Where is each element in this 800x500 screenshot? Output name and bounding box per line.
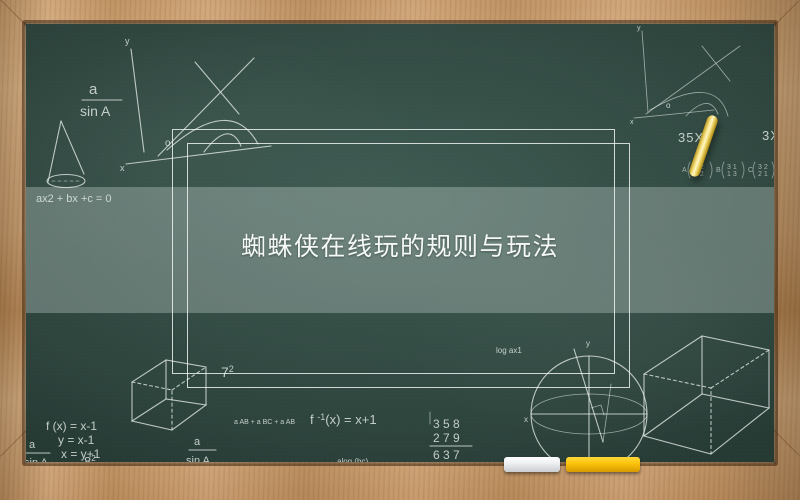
- frac-sina-bottom-2: sin A: [26, 457, 49, 462]
- axis-label-y-right: y: [637, 25, 641, 32]
- axis-label-y-left: y: [125, 36, 130, 46]
- svg-text:3 2: 3 2: [758, 164, 768, 171]
- long-div-row-2: 2 7 9: [433, 431, 460, 445]
- svg-text:3 1: 3 1: [727, 164, 737, 171]
- label-3x2: 3X2: [762, 128, 774, 143]
- screenshot-root: a sin A y x o ax2 + bx +c = 0: [0, 0, 800, 500]
- svg-text:1 3: 1 3: [727, 171, 737, 178]
- fx-equation: f (x) = x-1: [46, 419, 97, 433]
- chalkboard-surface: a sin A y x o ax2 + bx +c = 0: [26, 24, 774, 462]
- inner-title-rectangle: [187, 143, 630, 388]
- angle-label-left: o: [165, 138, 171, 149]
- frac-sina-bottom: sin A: [186, 455, 211, 462]
- cone-sketch: [47, 121, 85, 188]
- sphere-axis-x: x: [524, 415, 528, 424]
- inverse-function: f -1(x) = x+1: [310, 412, 377, 427]
- long-div-row-3: 6 3 7: [433, 448, 460, 462]
- alog-label: alog (bc): [337, 457, 368, 462]
- svg-text:A: A: [682, 167, 687, 174]
- power-eight: 82: [84, 454, 96, 462]
- svg-text:2 1: 2 1: [758, 171, 768, 178]
- cube-sketch-right: [644, 336, 769, 454]
- board-eraser-icon: [504, 457, 560, 472]
- chalk-fraction-numerator: a: [89, 81, 98, 98]
- frac-a-top: a: [194, 436, 201, 448]
- svg-text:C: C: [748, 167, 753, 174]
- chalk-stick-icon: [688, 114, 719, 178]
- angle-label-right: o: [666, 101, 671, 110]
- svg-text:B: B: [716, 167, 721, 174]
- angle-diagram-right: o x y: [630, 25, 740, 126]
- chalk-fraction-denominator: sin A: [80, 103, 111, 119]
- frac-a-top-2: a: [29, 439, 36, 451]
- long-div-row-1: 3 5 8: [433, 417, 460, 431]
- axis-label-x-left: x: [120, 163, 125, 173]
- fxy-equation: x = y+1: [61, 447, 101, 461]
- quadratic-equation: ax2 + bx +c = 0: [36, 193, 112, 205]
- tiny-equation: a AB + a BC + a AB: [234, 419, 295, 426]
- axis-label-x-right: x: [630, 119, 634, 126]
- ledge-chalk-icon: [566, 457, 640, 472]
- page-title: 蜘蛛侠在线玩的规则与玩法: [26, 227, 774, 263]
- fy-equation: y = x-1: [58, 433, 95, 447]
